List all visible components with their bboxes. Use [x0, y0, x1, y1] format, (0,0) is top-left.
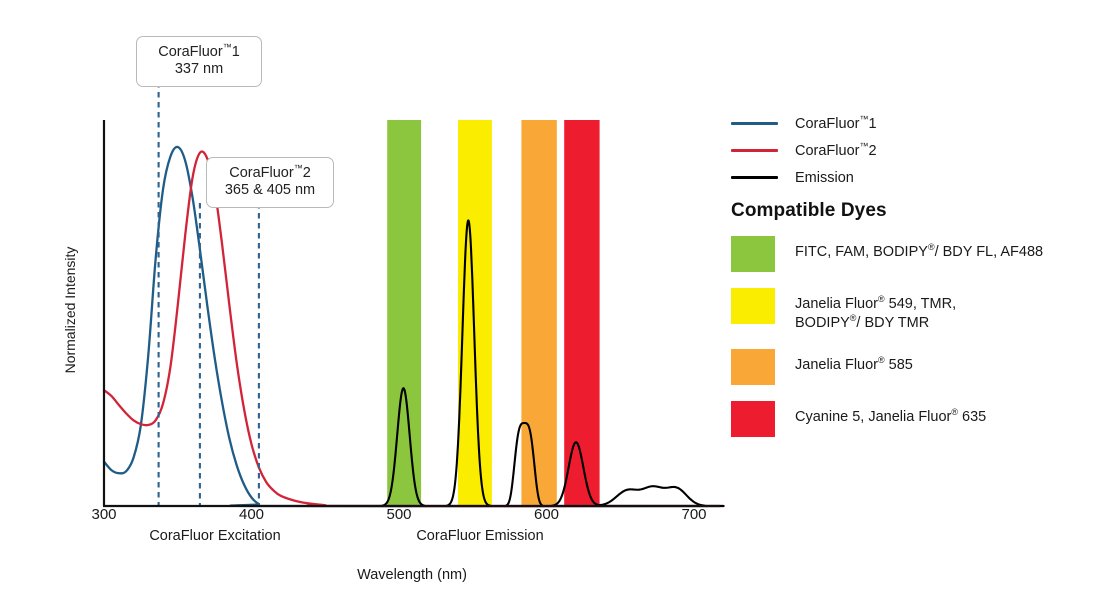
dye-label-line: Janelia Fluor® 549, TMR, — [795, 295, 956, 314]
legend-label-text: CoraFluor — [795, 143, 859, 159]
legend-item: CoraFluor™1 — [731, 110, 1101, 137]
dye-label-text: FITC, FAM, BODIPY — [795, 244, 928, 260]
legend-label-suffix: 1 — [868, 116, 876, 132]
registered-symbol: ® — [951, 407, 958, 417]
dye-label-suffix: 549, TMR, — [885, 296, 956, 312]
dye-label-suffix: / BDY FL, AF488 — [935, 244, 1044, 260]
dye-label-line: BODIPY®/ BDY TMR — [795, 314, 956, 333]
dye-label-suffix: 585 — [885, 357, 913, 373]
dye-item-label: Janelia Fluor® 585 — [795, 349, 913, 375]
x-axis-tick-300: 300 — [91, 506, 116, 523]
registered-symbol: ® — [928, 242, 935, 252]
legend-label-text: Emission — [795, 170, 854, 186]
callout-corafluor1-title: CoraFluor™1 — [147, 44, 251, 61]
y-axis-title: Normalized Intensity — [62, 247, 78, 374]
legend-item-label: CoraFluor™2 — [795, 143, 877, 159]
emission-band-red — [564, 120, 599, 506]
legend-label-suffix: 2 — [868, 143, 876, 159]
compatible-dye-item: Janelia Fluor® 585 — [731, 349, 1106, 385]
compatible-dyes-heading: Compatible Dyes — [731, 200, 887, 222]
x-axis-tick-400: 400 — [239, 506, 264, 523]
legend-item: Emission — [731, 164, 1101, 191]
dye-item-label: Janelia Fluor® 549, TMR,BODIPY®/ BDY TMR — [795, 288, 956, 333]
compatible-dye-item: Janelia Fluor® 549, TMR,BODIPY®/ BDY TMR — [731, 288, 1106, 333]
dye-label-text: Janelia Fluor — [795, 357, 878, 373]
dye-label-line: Janelia Fluor® 585 — [795, 356, 913, 375]
legend-item-label: CoraFluor™1 — [795, 116, 877, 132]
legend-line-swatch — [731, 149, 778, 152]
dye-label-line: FITC, FAM, BODIPY®/ BDY FL, AF488 — [795, 243, 1043, 262]
series-legend: CoraFluor™1CoraFluor™2Emission — [731, 110, 1101, 191]
emission-band-orange — [521, 120, 556, 506]
registered-symbol: ® — [878, 355, 885, 365]
legend-line-swatch — [731, 122, 778, 125]
dye-label-text: Cyanine 5, Janelia Fluor — [795, 409, 951, 425]
dye-label-suffix: / BDY TMR — [856, 315, 929, 331]
dye-label-line: Cyanine 5, Janelia Fluor® 635 — [795, 408, 986, 427]
x-axis-tick-500: 500 — [386, 506, 411, 523]
x-axis-title: Wavelength (nm) — [357, 567, 467, 583]
compatible-dye-item: FITC, FAM, BODIPY®/ BDY FL, AF488 — [731, 236, 1106, 272]
callout-corafluor2: CoraFluor™2 365 & 405 nm — [206, 157, 334, 208]
dye-color-swatch — [731, 401, 775, 437]
legend-item: CoraFluor™2 — [731, 137, 1101, 164]
legend-item-label: Emission — [795, 170, 854, 186]
legend-line-swatch — [731, 176, 778, 179]
x-axis-tick-700: 700 — [681, 506, 706, 523]
callout-corafluor1: CoraFluor™1 337 nm — [136, 36, 262, 87]
dye-color-swatch — [731, 288, 775, 324]
dye-color-swatch — [731, 236, 775, 272]
dye-item-label: FITC, FAM, BODIPY®/ BDY FL, AF488 — [795, 236, 1043, 262]
x-axis-region-label-excitation: CoraFluor Excitation — [149, 528, 280, 544]
callout-corafluor1-value: 337 nm — [147, 61, 251, 78]
x-axis-region-label-emission: CoraFluor Emission — [416, 528, 543, 544]
dye-item-label: Cyanine 5, Janelia Fluor® 635 — [795, 401, 986, 427]
fluorescence-spectra-figure: CoraFluor™1 337 nm CoraFluor™2 365 & 405… — [0, 0, 1110, 612]
dye-color-swatch — [731, 349, 775, 385]
dye-label-text: BODIPY — [795, 315, 850, 331]
registered-symbol: ® — [878, 294, 885, 304]
callout-corafluor2-title: CoraFluor™2 — [217, 165, 323, 182]
compatible-dye-item: Cyanine 5, Janelia Fluor® 635 — [731, 401, 1106, 437]
compatible-dyes-list: FITC, FAM, BODIPY®/ BDY FL, AF488Janelia… — [731, 236, 1106, 453]
dye-label-text: Janelia Fluor — [795, 296, 878, 312]
emission-band-green — [387, 120, 421, 506]
callout-corafluor2-value: 365 & 405 nm — [217, 182, 323, 199]
x-axis-tick-600: 600 — [534, 506, 559, 523]
legend-label-text: CoraFluor — [795, 116, 859, 132]
dye-label-suffix: 635 — [958, 409, 986, 425]
